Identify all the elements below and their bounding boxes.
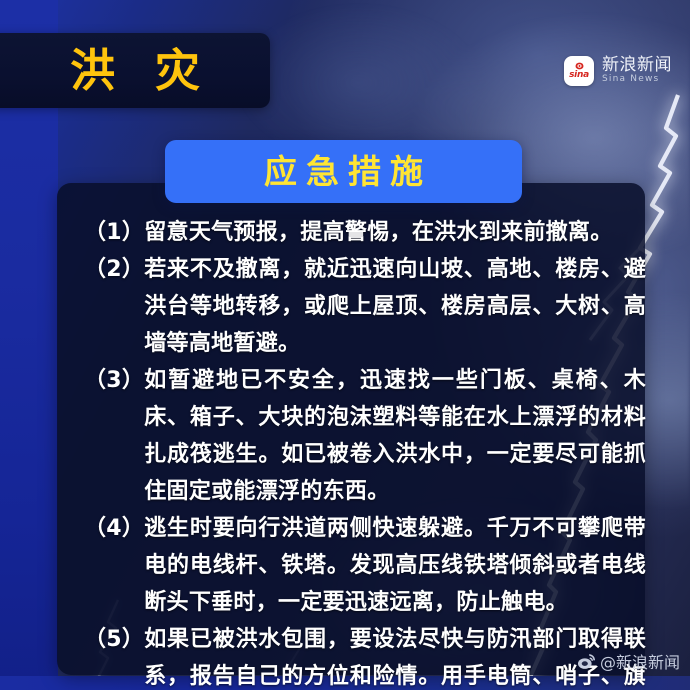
weibo-handle: @新浪新闻 [600, 649, 680, 673]
weibo-icon [577, 653, 596, 670]
section-banner-label: 应急措施 [255, 155, 432, 188]
list-item: （1）留意天气预报，提高警惕，在洪水到来前撤离。 [84, 214, 646, 251]
list-item-number: （1） [84, 214, 144, 251]
list-item-text: 若来不及撤离，就近迅速向山坡、高地、楼房、避洪台等地转移，或爬上屋顶、楼房高层、… [144, 251, 646, 362]
list-item-text: 如暂避地已不安全，迅速找一些门板、桌椅、木床、箱子、大块的泡沫塑料等能在水上漂浮… [144, 362, 646, 510]
sina-logo-icon: sina [564, 56, 594, 86]
page-title: 洪 灾 [58, 48, 212, 93]
list-item-number: （3） [84, 362, 144, 399]
sina-eye-icon [575, 62, 584, 70]
list-item: （3）如暂避地已不安全，迅速找一些门板、桌椅、木床、箱子、大块的泡沫塑料等能在水… [84, 362, 646, 510]
poster-title-chip: 洪 灾 [0, 33, 270, 108]
sina-wordmark: sina [569, 71, 589, 80]
list-item-text: 逃生时要向行洪道两侧快速躲避。千万不可攀爬带电的电线杆、铁塔。发现高压线铁塔倾斜… [144, 510, 646, 621]
measures-list: （1）留意天气预报，提高警惕，在洪水到来前撤离。（2）若来不及撤离，就近迅速向山… [84, 214, 646, 690]
weibo-watermark: @新浪新闻 [577, 649, 680, 673]
section-banner: 应急措施 [165, 140, 522, 203]
list-item-text: 如果已被洪水包围，要设法尽快与防汛部门取得联系，报告自己的方位和险情。用手电筒、… [144, 621, 646, 690]
list-item: （5）如果已被洪水包围，要设法尽快与防汛部门取得联系，报告自己的方位和险情。用手… [84, 621, 646, 690]
list-item-text: 留意天气预报，提高警惕，在洪水到来前撤离。 [144, 214, 646, 251]
brand-names: 新浪新闻 Sina News [602, 57, 672, 84]
infographic-poster: 洪 灾 sina 新浪新闻 Sina News 应急措施 （1）留意天气预报，提… [0, 0, 690, 690]
brand-lockup: sina 新浪新闻 Sina News [564, 56, 672, 86]
brand-name-en: Sina News [602, 75, 672, 84]
list-item: （2）若来不及撤离，就近迅速向山坡、高地、楼房、避洪台等地转移，或爬上屋顶、楼房… [84, 251, 646, 362]
list-item-number: （2） [84, 251, 144, 288]
list-item: （4）逃生时要向行洪道两侧快速躲避。千万不可攀爬带电的电线杆、铁塔。发现高压线铁… [84, 510, 646, 621]
list-item-number: （4） [84, 510, 144, 547]
brand-name-cn: 新浪新闻 [602, 57, 672, 75]
list-item-number: （5） [84, 621, 144, 658]
